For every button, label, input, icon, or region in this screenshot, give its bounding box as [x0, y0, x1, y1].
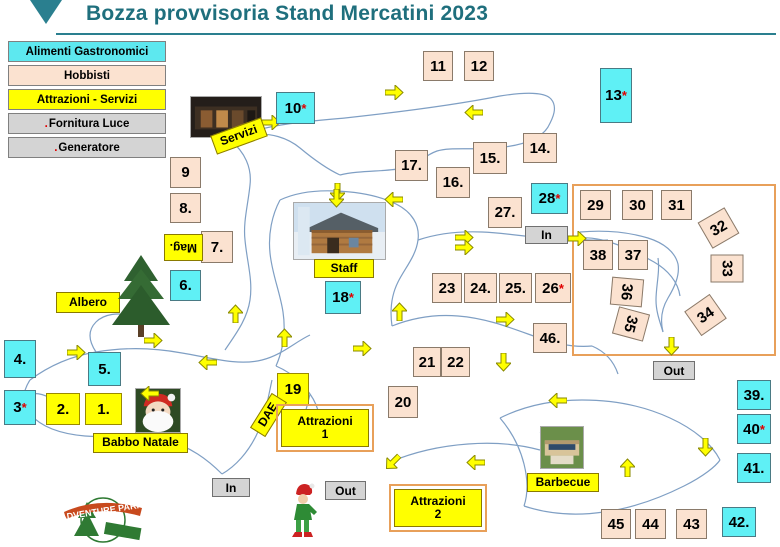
stand-star-icon: * [622, 89, 627, 102]
stand-number: 28 [539, 191, 556, 206]
stand-box-37[interactable]: 37 [618, 240, 648, 270]
stand-number: 4. [14, 352, 27, 367]
stand-number: 41. [744, 461, 765, 476]
tag-text: Staff [331, 262, 358, 275]
stand-box-20[interactable]: 20 [388, 386, 418, 418]
adventure-park-logo: ADVENTURE PARK [54, 492, 152, 544]
stand-number: 22 [447, 355, 464, 370]
stand-number: 8. [179, 201, 192, 216]
stand-star-icon: * [760, 423, 765, 436]
tag-text: Albero [69, 296, 107, 309]
direction-arrow-down-icon [494, 355, 513, 370]
direction-arrow-right-icon [496, 312, 515, 327]
stand-number: 5. [98, 362, 111, 377]
legend-label: Alimenti Gastronomici [26, 46, 149, 58]
stand-number: 37 [625, 248, 642, 263]
stand-number: 39. [744, 388, 765, 403]
stand-number: 45 [608, 517, 625, 532]
stand-box-6[interactable]: 6. [170, 270, 201, 301]
stand-number: 25. [505, 281, 526, 296]
stand-box-17[interactable]: 17. [395, 150, 428, 181]
stand-box-30[interactable]: 30 [622, 190, 653, 220]
gate-out-main[interactable]: Out [325, 481, 366, 500]
stand-box-26[interactable]: 26* [535, 273, 571, 303]
legend-label: Fornitura Luce [49, 118, 130, 130]
direction-arrow-left-icon [466, 455, 485, 470]
stand-number: 21 [419, 355, 436, 370]
direction-arrow-up-icon [390, 304, 409, 319]
attr1-box[interactable]: Attrazioni1 [281, 409, 369, 447]
legend-item-attrazioni: Attrazioni - Servizi [8, 89, 166, 110]
stand-number: 9 [181, 165, 189, 180]
gate-in-main[interactable]: In [212, 478, 250, 497]
direction-arrow-up-icon [226, 306, 245, 321]
bullet-dot-icon: . [45, 118, 48, 130]
stand-box-14[interactable]: 14. [523, 133, 557, 163]
gate-in-right[interactable]: In [525, 226, 568, 244]
gate-label: Out [335, 484, 356, 498]
stand-number: 10 [285, 101, 302, 116]
stand-box-3[interactable]: 3* [4, 390, 36, 425]
stand-box-7[interactable]: 7. [201, 231, 233, 263]
stand-box-41[interactable]: 41. [737, 453, 771, 483]
stand-box-43[interactable]: 43 [676, 509, 707, 539]
stand-box-15[interactable]: 15. [473, 142, 507, 174]
bullet-dot-icon: . [54, 142, 57, 154]
stand-box-18[interactable]: 18* [325, 281, 361, 314]
attraction-number: 1 [322, 428, 329, 441]
stand-number: 31 [668, 198, 685, 213]
stand-box-10[interactable]: 10* [276, 92, 315, 124]
stand-box-25[interactable]: 25. [499, 273, 532, 303]
legend-item-hobbisti: Hobbisti [8, 65, 166, 86]
stand-number: 14. [530, 141, 551, 156]
legend-item-fornitura-luce: . Fornitura Luce [8, 113, 166, 134]
direction-arrow-down-icon [696, 440, 715, 455]
stand-number: 19 [285, 382, 302, 397]
legend-item-alimenti: Alimenti Gastronomici [8, 41, 166, 62]
stand-box-38[interactable]: 38 [583, 240, 613, 270]
direction-arrow-left-icon [140, 386, 159, 401]
barbecue-label: Barbecue [527, 473, 599, 492]
stand-number: 46. [540, 331, 561, 346]
stand-box-44[interactable]: 44 [635, 509, 666, 539]
stand-box-11[interactable]: 11 [423, 51, 453, 81]
stand-box-1[interactable]: 1. [85, 393, 122, 425]
stand-star-icon: * [349, 291, 354, 304]
direction-arrow-left-icon [384, 192, 403, 207]
direction-arrow-left-icon [464, 105, 483, 120]
direction-arrow-down-icon [662, 339, 681, 354]
direction-arrow-downleft-icon [383, 455, 402, 470]
stand-box-8[interactable]: 8. [170, 193, 201, 223]
stand-number: 35 [622, 314, 641, 334]
direction-arrow-down-icon [327, 191, 346, 206]
direction-arrow-up-icon [275, 330, 294, 345]
legend-panel: Alimenti Gastronomici Hobbisti Attrazion… [8, 41, 166, 161]
elf-figure-icon [288, 482, 318, 540]
stand-number: 7. [211, 240, 224, 255]
legend-label: Hobbisti [64, 70, 110, 82]
stand-box-2[interactable]: 2. [46, 393, 80, 425]
stand-box-21[interactable]: 21 [413, 347, 441, 377]
stand-box-16[interactable]: 16. [436, 167, 470, 198]
stand-box-13[interactable]: 13* [600, 68, 632, 123]
stand-number: 12 [471, 59, 488, 74]
tag-text: Barbecue [536, 476, 591, 489]
stand-star-icon: * [22, 401, 27, 414]
direction-arrow-right-icon [67, 345, 86, 360]
gate-out-right[interactable]: Out [653, 361, 695, 380]
stand-number: 23 [439, 281, 456, 296]
stand-number: 6. [179, 278, 192, 293]
stand-box-27[interactable]: 27. [488, 197, 522, 228]
stand-number: 3 [13, 400, 21, 415]
stand-box-22[interactable]: 22 [441, 347, 470, 377]
stand-number: 20 [395, 395, 412, 410]
svg-text:ADVENTURE PARK: ADVENTURE PARK [60, 500, 144, 523]
stand-box-39[interactable]: 39. [737, 380, 771, 410]
legend-label: Attrazioni - Servizi [37, 94, 137, 106]
stand-number: 17. [401, 158, 422, 173]
direction-arrow-right-icon [353, 341, 372, 356]
stand-number: 33 [720, 260, 735, 277]
stand-box-40[interactable]: 40* [737, 414, 771, 444]
stand-number: 24. [470, 281, 491, 296]
stand-box-36[interactable]: 36 [610, 277, 644, 308]
attr2-box[interactable]: Attrazioni2 [394, 489, 482, 527]
stand-number: 1. [97, 402, 110, 417]
stand-box-33[interactable]: 33 [711, 255, 744, 283]
legend-label: Generatore [58, 142, 119, 154]
direction-arrow-left-icon [198, 355, 217, 370]
stand-box-28[interactable]: 28* [531, 183, 568, 214]
stand-number: 36 [619, 283, 635, 301]
stand-box-45[interactable]: 45 [601, 509, 631, 539]
stand-box-12[interactable]: 12 [464, 51, 494, 81]
stand-number: 30 [629, 198, 646, 213]
staff-cabin-photo [293, 202, 386, 260]
stand-number: 43 [683, 517, 700, 532]
gate-label: In [226, 481, 237, 495]
direction-arrow-right-icon [455, 240, 474, 255]
barbecue-stand-photo [540, 426, 584, 469]
stand-box-5[interactable]: 5. [88, 352, 121, 386]
gate-label: In [541, 228, 552, 242]
stand-box-29[interactable]: 29 [580, 190, 611, 220]
stand-box-9[interactable]: 9 [170, 157, 201, 188]
legend-item-generatore: . Generatore [8, 137, 166, 158]
stand-box-46[interactable]: 46. [533, 323, 567, 353]
stand-number: 40 [743, 422, 760, 437]
stand-number: 32 [708, 217, 730, 238]
stand-number: 27. [495, 205, 516, 220]
babbo-label: Babbo Natale [93, 433, 188, 453]
direction-arrow-right-icon [385, 85, 404, 100]
stand-box-24[interactable]: 24. [464, 273, 497, 303]
stand-number: 42. [729, 515, 750, 530]
stand-number: 2. [57, 402, 70, 417]
stand-number: 13 [605, 88, 622, 103]
map-canvas: Bozza provvisoria Stand Mercatini 2023 [0, 0, 780, 547]
gate-label: Out [664, 364, 685, 378]
stand-box-42[interactable]: 42. [722, 507, 756, 537]
staff-label: Staff [314, 259, 374, 278]
stand-number: 38 [590, 248, 607, 263]
stand-box-31[interactable]: 31 [661, 190, 692, 220]
tag-text: Babbo Natale [102, 436, 179, 449]
stand-number: 11 [430, 59, 446, 74]
stand-box-4[interactable]: 4. [4, 340, 36, 378]
stand-number: 29 [587, 198, 604, 213]
stand-number: 16. [443, 175, 464, 190]
stand-star-icon: * [555, 192, 560, 205]
stand-number: 26 [542, 281, 559, 296]
stand-star-icon: * [559, 282, 564, 295]
stand-star-icon: * [301, 102, 306, 115]
direction-arrow-left-icon [548, 393, 567, 408]
direction-arrow-up-icon [618, 460, 637, 475]
stand-box-23[interactable]: 23 [432, 273, 462, 303]
stand-number: 44 [642, 517, 659, 532]
stand-number: 18 [332, 290, 349, 305]
stand-number: 34 [694, 304, 716, 326]
stand-number: 15. [480, 151, 501, 166]
christmas-tree-icon [108, 253, 174, 337]
attraction-number: 2 [435, 508, 442, 521]
